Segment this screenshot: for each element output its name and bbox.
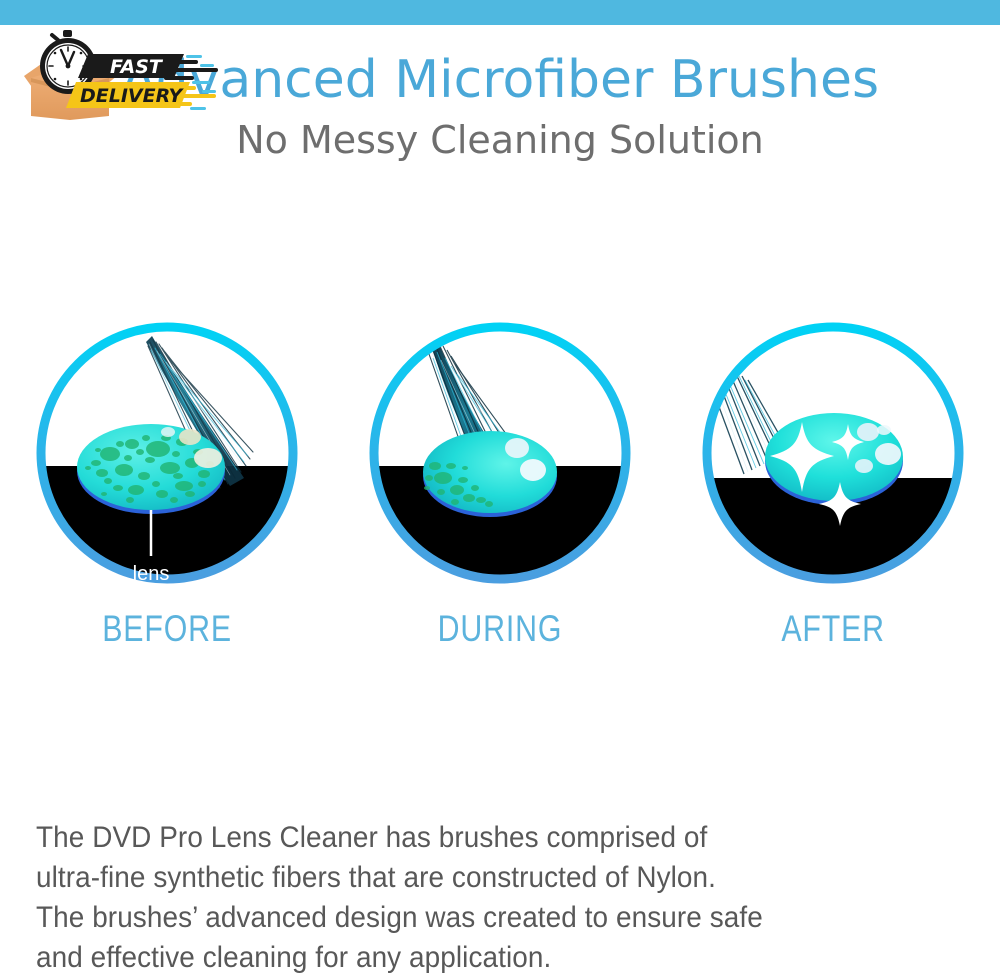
stage-panels-row: lens BEFORE <box>0 318 1000 678</box>
panel-label-before: BEFORE <box>102 608 232 650</box>
description-line: and effective cleaning for any applicati… <box>36 938 892 976</box>
badge-delivery-label: DELIVERY <box>80 85 184 107</box>
panel-during: DURING <box>355 318 645 678</box>
lens-during <box>423 431 557 517</box>
top-accent-bar <box>0 0 1000 25</box>
badge-delivery-banner: DELIVERY <box>66 82 190 108</box>
stage-illustration-during <box>365 318 635 588</box>
panel-before: lens BEFORE <box>22 318 312 678</box>
lens-annotation-label: lens <box>132 563 169 585</box>
lens-before <box>77 424 225 514</box>
stage-illustration-before: lens <box>32 318 302 588</box>
description-line: ultra-fine synthetic fibers that are con… <box>36 858 892 898</box>
product-infographic-page: Advanced Microfiber Brushes No Messy Cle… <box>0 0 1000 976</box>
badge-fast-banner: FAST <box>78 54 184 78</box>
panel-label-during: DURING <box>438 608 563 650</box>
panel-label-after: AFTER <box>782 608 886 650</box>
description-line: The brushes’ advanced design was created… <box>36 898 892 938</box>
description-line: The DVD Pro Lens Cleaner has brushes com… <box>36 818 892 858</box>
badge-fast-label: FAST <box>110 56 164 78</box>
description-block: The DVD Pro Lens Cleaner has brushes com… <box>36 818 956 976</box>
panel-after: AFTER <box>688 318 978 678</box>
stage-illustration-after <box>698 318 968 588</box>
fast-delivery-badge: FAST DELIVERY <box>14 28 229 120</box>
